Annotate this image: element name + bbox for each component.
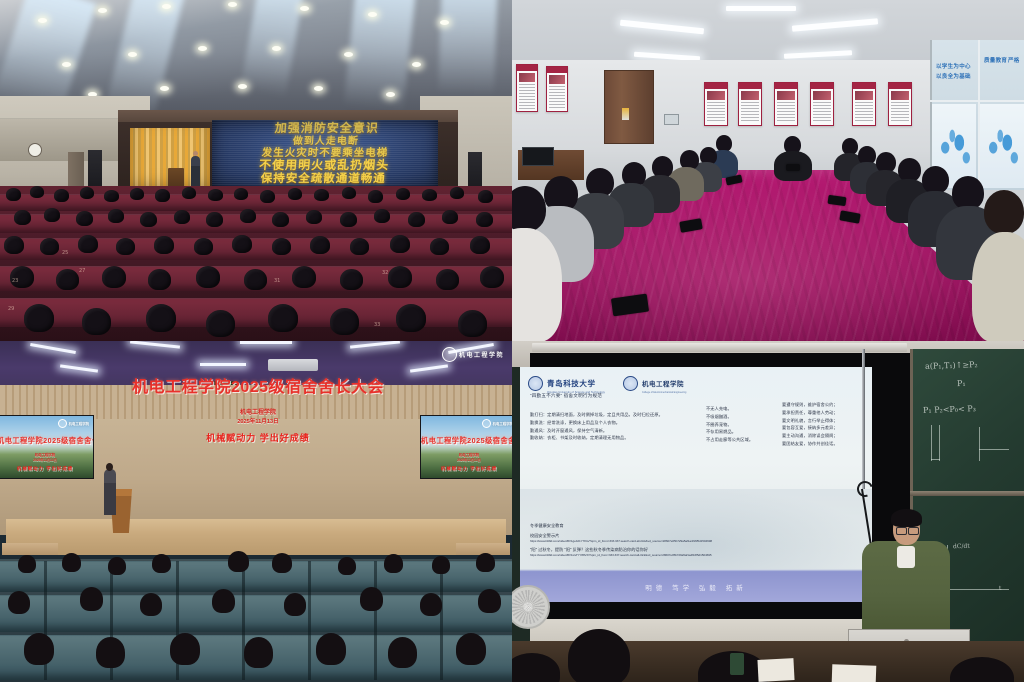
- audience-head: [422, 189, 437, 201]
- college-name-en: College of Electromechanical Engineering: [642, 391, 686, 394]
- led-line-1: 加强消防安全意识: [213, 122, 438, 136]
- audience-head: [196, 266, 220, 288]
- lecturer-hair: [891, 509, 922, 527]
- slide-item: 勤通风：及时开窗通风，保持空气清新。: [530, 427, 695, 435]
- attendee-head: [80, 587, 103, 611]
- photo-collage: 加强消防安全意识 做到人走电断 发生火灾时不要乘坐电梯 不使用明火或乱扔烟头 保…: [0, 0, 1024, 682]
- microphone-pole: [862, 349, 865, 489]
- audience-head: [108, 209, 124, 223]
- blackboard-diagram-line: [939, 425, 940, 461]
- audience-head: [268, 304, 298, 332]
- downlight: [344, 52, 353, 57]
- audience-head: [244, 269, 267, 290]
- attendee-head: [272, 553, 292, 573]
- audience-head: [6, 188, 21, 201]
- audience-head: [4, 236, 24, 254]
- ceiling-lamp: [240, 341, 292, 344]
- side-led-slogan: 机械赋动力 学出好成绩: [0, 466, 93, 472]
- audience-head: [54, 189, 69, 202]
- side-led-date: 2025年11月13日: [421, 457, 512, 462]
- audience-head: [234, 188, 248, 200]
- downlight: [238, 84, 247, 89]
- audience-head: [24, 304, 54, 332]
- attendee-head: [228, 551, 249, 572]
- stage-step[interactable]: [2, 543, 58, 555]
- audience-head: [458, 310, 487, 337]
- slide-column-middle: 不无人充电。 不吸烟酗酒。 不圈养宠物。 不存用易燃品。 不占用走廊等公共区域。: [706, 405, 786, 444]
- wall-poster: [516, 64, 538, 112]
- audience-head: [442, 210, 458, 224]
- audience-head: [30, 186, 44, 198]
- blackboard-diagram-line: [979, 427, 980, 461]
- chair-divider: [440, 561, 443, 680]
- auditorium-audience: 23 25 27 29 31 32 33: [0, 186, 512, 341]
- audience-head: [116, 238, 135, 255]
- chair-divider: [242, 561, 245, 680]
- slide-item: 不存用易燃品。: [706, 428, 786, 436]
- audience-head: [314, 189, 329, 201]
- attendee-head: [338, 557, 356, 575]
- auditorium-led-screen: 加强消防安全意识 做到人走电断 发生火灾时不要乘坐电梯 不使用明火或乱扔烟头 保…: [212, 120, 438, 190]
- attendee-head: [170, 633, 200, 665]
- side-led-date: 2025年11月13日: [0, 457, 93, 462]
- audience-head: [272, 212, 289, 227]
- projection-screen-housing: [532, 343, 907, 352]
- wall-poster: [810, 82, 834, 126]
- wall-clock-icon: [28, 143, 42, 157]
- presentation-slide: 青岛科技大学 Qingdao University of Science and…: [520, 367, 872, 602]
- photo-dormitory-leaders-meeting[interactable]: 以学生为中心 以良全为基础 质量教育 严格: [512, 0, 1024, 341]
- audience-head: [450, 187, 464, 199]
- downlight: [162, 4, 171, 9]
- seat-number: 25: [62, 250, 68, 256]
- attendee-head: [922, 166, 949, 194]
- glasses-icon: [896, 527, 907, 535]
- audience-head: [306, 210, 322, 224]
- slide-item: 不无人充电。: [706, 405, 786, 413]
- reference-url-1[interactable]: https://www.bilibili.com/video/BV1ge421Y…: [530, 539, 860, 543]
- blackboard-axis-label-y: dC/dt: [953, 543, 970, 551]
- audience-head: [374, 209, 390, 223]
- wall-poster: [738, 82, 762, 126]
- side-led-logo-text: 机电工程学院: [493, 421, 512, 426]
- attendee-head: [140, 593, 162, 616]
- audience-head: [388, 266, 412, 288]
- slide-item: 不占用走廊等公共区域。: [706, 436, 786, 444]
- chair-divider: [308, 561, 311, 680]
- attendee-head: [108, 557, 126, 575]
- downlight: [300, 6, 309, 11]
- side-led-logo: 机电工程学院: [482, 419, 512, 428]
- led-line-5: 保持安全疏散通道畅通: [212, 173, 437, 186]
- attendee-head: [152, 554, 171, 573]
- blackboard-formula-3: P₁ P₂<P₀< P₃: [923, 404, 976, 415]
- audience-head: [194, 238, 213, 255]
- slide-column-right: 要遵守规则，维护宿舍公约； 要承担责任，尊重他人劳动； 要文明礼貌，言行举止得体…: [782, 401, 872, 448]
- audience-head: [182, 187, 196, 199]
- photo-dorm-head-conference[interactable]: EXIT 机电工程学院 机电工程学院2025级宿舍舍长大会 机电工程学院 202…: [0, 341, 512, 682]
- blackboard-diagram-line: [979, 449, 1009, 450]
- slide-header: 青岛科技大学 Qingdao University of Science and…: [528, 373, 686, 394]
- audience-head: [368, 190, 383, 203]
- downlight: [228, 2, 237, 7]
- window-text-line-3: 质量教育: [984, 56, 1007, 64]
- attendee-head: [984, 190, 1024, 234]
- reference-heading: 冬季健康安全教育: [530, 523, 860, 529]
- side-led-title: 机电工程学院2025级宿舍舍长大会: [421, 436, 512, 446]
- audience-head: [340, 212, 357, 227]
- university-motto: 明德 笃学 弘毅 拓新: [645, 582, 746, 592]
- blackboard-diagram-line: [931, 425, 932, 461]
- main-led-slogan: 机械赋动力 学出好成绩: [2, 431, 269, 444]
- main-led-date: 2025年11月13日: [2, 417, 269, 425]
- audience-head: [148, 269, 171, 290]
- slide-item: 要遵守规则，维护宿舍公约；: [782, 401, 872, 409]
- led-line-3: 发生火灾时不要乘坐电梯: [212, 147, 438, 159]
- audience-head: [478, 190, 493, 203]
- college-name: 机电工程学院 College of Electromechanical Engi…: [642, 373, 686, 394]
- glasses-icon: [908, 527, 919, 535]
- audience-head: [14, 210, 31, 225]
- attendee-head: [512, 186, 546, 232]
- audience-head: [476, 212, 493, 227]
- seat-number: 27: [79, 268, 85, 274]
- attendee-head: [8, 591, 30, 614]
- window-text-line-4: 严格: [1008, 56, 1020, 64]
- audience-head: [288, 188, 302, 200]
- slide-item: 勤收纳：衣柜、书架及时收纳，定期清理无用物品。: [530, 434, 695, 442]
- audience-head: [430, 238, 449, 255]
- door-sign: [622, 108, 629, 120]
- main-led-org: 机电工程学院: [2, 407, 269, 416]
- attendee-head: [432, 556, 450, 574]
- audience-head: [342, 187, 356, 199]
- wall-panel: [0, 118, 132, 161]
- audience-head: [76, 211, 93, 226]
- side-led-slogan: 机械赋动力 学出好成绩: [421, 466, 512, 472]
- slide-subtitle: “四勤五不六要” 宿舍文明行为规范: [530, 393, 602, 399]
- seat-number: 31: [274, 278, 280, 284]
- attendee-head: [478, 589, 501, 613]
- blackboard-chalk-rail: [910, 491, 1024, 496]
- photo-fire-safety-assembly[interactable]: 加强消防安全意识 做到人走电断 发生火灾时不要乘坐电梯 不使用明火或乱扔烟头 保…: [0, 0, 512, 341]
- audience-head: [206, 212, 223, 227]
- audience-head: [240, 209, 256, 223]
- attendee-head: [420, 593, 442, 616]
- audience-head: [272, 238, 291, 255]
- university-name: 青岛科技大学 Qingdao University of Science and…: [547, 373, 605, 394]
- wall-poster: [852, 82, 876, 126]
- attendee-head: [952, 176, 984, 210]
- audience-head: [408, 212, 425, 227]
- slide-item: 要承担责任，尊重他人劳动；: [782, 409, 872, 417]
- side-led-screen-right: 机电工程学院 机电工程学院2025级宿舍舍长大会 机电工程学院 2025年11月…: [420, 415, 512, 479]
- downlight: [62, 62, 71, 67]
- downlight: [386, 92, 395, 97]
- audience-head: [470, 236, 490, 254]
- slide-item: 勤换洗：经常洗涤，更换床上用品及个人衣物。: [530, 419, 695, 427]
- university-name-cn: 青岛科技大学: [547, 379, 596, 388]
- audience-head: [310, 236, 330, 254]
- ceiling-light: [726, 6, 796, 11]
- chair-divider: [374, 561, 377, 680]
- attendee-head: [212, 589, 235, 613]
- attendee-head: [62, 553, 81, 572]
- seat-number: 29: [8, 306, 14, 312]
- blackboard-axis-x: [947, 589, 1009, 590]
- downlight: [98, 8, 107, 13]
- downlight: [198, 46, 207, 51]
- seat-row[interactable]: [0, 298, 512, 327]
- audience-head: [350, 238, 369, 255]
- audience-head: [155, 189, 170, 202]
- blackboard-formula-2: P₁: [957, 379, 966, 388]
- attendee-head: [284, 593, 306, 616]
- college-seal-icon: [482, 419, 491, 428]
- college-crest-icon: [623, 376, 638, 391]
- audience-head: [232, 235, 252, 253]
- desktop-monitor: [522, 147, 554, 166]
- blackboard-formula-1: a(P₁,T₁)↑≥P₂: [925, 360, 978, 371]
- audience-head: [40, 238, 59, 255]
- attendee-head: [456, 633, 486, 665]
- audience-head: [396, 188, 410, 200]
- led-line-4: 不使用明火或乱扔烟头: [212, 159, 438, 173]
- audience-head: [330, 308, 359, 335]
- attendee-body: [972, 232, 1024, 341]
- audience-head: [82, 308, 111, 335]
- audience-head: [174, 210, 190, 224]
- audience-head: [80, 187, 94, 199]
- downlight: [412, 62, 421, 67]
- slide-item: 要文明礼貌，言行举止得体；: [782, 417, 872, 425]
- audience-head: [10, 266, 34, 288]
- university-crest-icon: [528, 376, 543, 391]
- audience-head: [396, 304, 426, 332]
- slide-references: 冬季健康安全教育 校园安全警示片 https://www.bilibili.co…: [530, 519, 860, 557]
- window-mullion: [930, 100, 1024, 102]
- blackboard-diagram-line: [931, 459, 940, 460]
- audience-head: [146, 304, 176, 332]
- slide-item: 要包容互爱，接纳多元差异；: [782, 424, 872, 432]
- attendee-head: [96, 637, 125, 668]
- audience-head: [260, 190, 275, 203]
- seat-number: 33: [374, 322, 380, 328]
- college-name-cn: 机电工程学院: [642, 381, 684, 388]
- desk-cup: [730, 653, 744, 675]
- audience-head: [130, 188, 144, 200]
- downlight: [440, 20, 449, 25]
- led-slogan-block: 加强消防安全意识 做到人走电断 发生火灾时不要乘坐电梯 不使用明火或乱扔烟头 保…: [212, 120, 438, 186]
- attendee-head: [18, 555, 36, 573]
- ceiling-lamp: [200, 363, 246, 366]
- audience-head: [340, 269, 363, 290]
- light-beam: [438, 0, 498, 96]
- attendee-head: [316, 633, 346, 665]
- slide-footer: 明德 笃学 弘毅 拓新: [520, 572, 872, 602]
- audience-head: [154, 236, 174, 254]
- attendee-head: [360, 587, 383, 611]
- seat-number: 23: [12, 278, 18, 284]
- slide-item: 勤打扫：定期清扫地面，及时倒掉垃圾，定且共用品，及时归位还原。: [530, 411, 695, 419]
- attendee-head: [244, 637, 273, 668]
- slide-item: 不圈养宠物。: [706, 421, 786, 429]
- audience-head: [102, 266, 126, 288]
- audience-head: [208, 189, 223, 201]
- wall-poster: [774, 82, 798, 126]
- hall-seating-area: [0, 559, 512, 682]
- downlight: [314, 86, 323, 91]
- wall-poster: [704, 82, 728, 126]
- attendee-head: [476, 553, 495, 572]
- audience-head: [78, 235, 98, 253]
- audience-head: [206, 310, 235, 337]
- slide-item: 要团结友爱，协作共创佳话。: [782, 440, 872, 448]
- audience-head: [436, 269, 459, 290]
- ceiling-air-conditioner: [268, 359, 318, 371]
- audience-head: [104, 190, 119, 202]
- meeting-room-door[interactable]: [604, 70, 654, 144]
- window-text-line-2: 以良全为基础: [936, 72, 971, 80]
- downlight: [368, 12, 377, 17]
- photo-classroom-safety-lecture[interactable]: 青岛科技大学 Qingdao University of Science and…: [512, 341, 1024, 682]
- desk-paper: [832, 664, 877, 682]
- seat-number: 32: [382, 270, 388, 276]
- desk-paper: [757, 658, 794, 682]
- conference-presenter: [104, 469, 116, 515]
- lecturer-shirt: [897, 546, 915, 568]
- ac-control-panel[interactable]: [664, 114, 679, 125]
- attendee-head: [388, 637, 417, 668]
- slide-item: 不吸烟酗酒。: [706, 413, 786, 421]
- main-led-title: 机电工程学院2025级宿舍舍长大会: [2, 373, 269, 397]
- downlight: [128, 52, 137, 57]
- wall-poster: [888, 82, 912, 126]
- audience-head: [140, 212, 157, 227]
- audience-head: [44, 208, 60, 222]
- window-text-line-1: 以学生为中心: [936, 62, 971, 70]
- downlight: [38, 18, 47, 23]
- student-head: [568, 629, 630, 682]
- reference-url-2[interactable]: https://www.bilibili.com/video/BV1wVrYY8…: [530, 553, 860, 557]
- audience-head: [390, 235, 410, 253]
- wall-poster: [546, 66, 568, 112]
- world-map-panel: [980, 104, 1024, 188]
- downlight: [272, 46, 281, 51]
- audience-head: [480, 266, 504, 288]
- audience-head: [292, 266, 316, 288]
- smartphone[interactable]: [786, 164, 800, 171]
- attendee-head: [384, 554, 403, 573]
- downlight: [160, 86, 169, 91]
- slide-column-left: 勤打扫：定期清扫地面，及时倒掉垃圾，定且共用品，及时归位还原。 勤换洗：经常洗涤…: [530, 411, 695, 442]
- led-line-2: 做到人走电断: [212, 136, 438, 148]
- attendee-head: [24, 633, 54, 665]
- slide-item: 要主动沟通，消除误会隔阂；: [782, 432, 872, 440]
- audience-head: [56, 269, 79, 290]
